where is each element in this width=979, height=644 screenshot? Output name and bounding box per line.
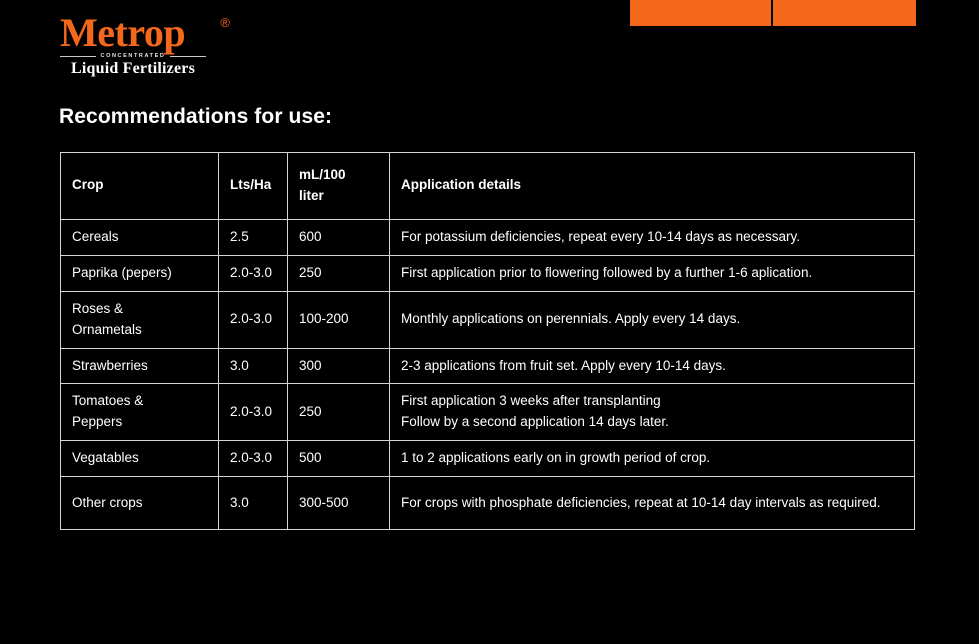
cell-crop: Cereals	[61, 219, 219, 255]
table-header-row: Crop Lts/Ha mL/100 liter Application det…	[61, 153, 915, 220]
brand-tagline: Liquid Fertilizers	[60, 60, 206, 78]
cell-crop: Vegatables	[61, 441, 219, 477]
registered-trademark-icon: ®	[220, 16, 230, 29]
cell-lts-ha: 2.0-3.0	[219, 291, 288, 348]
brand-logo: Metrop® CONCENTRATED Liquid Fertilizers	[60, 14, 220, 78]
page-title: Recommendations for use:	[59, 105, 332, 129]
cell-details: First application 3 weeks after transpla…	[390, 384, 915, 441]
cell-crop: Other crops	[61, 477, 219, 530]
rule-right	[170, 56, 206, 57]
cell-ml-100l: 250	[288, 255, 390, 291]
table-row: Tomatoes & Peppers 2.0-3.0 250 First app…	[61, 384, 915, 441]
cell-lts-ha: 2.0-3.0	[219, 384, 288, 441]
column-header-crop: Crop	[61, 153, 219, 220]
cell-crop: Tomatoes & Peppers	[61, 384, 219, 441]
decorative-top-bars	[630, 0, 916, 26]
table-row: Vegatables 2.0-3.0 500 1 to 2 applicatio…	[61, 441, 915, 477]
rule-left	[60, 56, 96, 57]
cell-details: 1 to 2 applications early on in growth p…	[390, 441, 915, 477]
cell-lts-ha: 2.5	[219, 219, 288, 255]
column-header-application-details: Application details	[390, 153, 915, 220]
cell-crop: Strawberries	[61, 348, 219, 384]
cell-ml-100l: 100-200	[288, 291, 390, 348]
cell-details: Monthly applications on perennials. Appl…	[390, 291, 915, 348]
cell-ml-100l: 600	[288, 219, 390, 255]
table-row: Paprika (pepers) 2.0-3.0 250 First appli…	[61, 255, 915, 291]
table-row: Strawberries 3.0 300 2-3 applications fr…	[61, 348, 915, 384]
cell-crop: Roses & Ornametals	[61, 291, 219, 348]
table-row: Roses & Ornametals 2.0-3.0 100-200 Month…	[61, 291, 915, 348]
cell-lts-ha: 3.0	[219, 348, 288, 384]
cell-details: First application prior to flowering fol…	[390, 255, 915, 291]
cell-details: For crops with phosphate deficiencies, r…	[390, 477, 915, 530]
cell-lts-ha: 2.0-3.0	[219, 255, 288, 291]
cell-lts-ha: 2.0-3.0	[219, 441, 288, 477]
cell-details: For potassium deficiencies, repeat every…	[390, 219, 915, 255]
cell-ml-100l: 300-500	[288, 477, 390, 530]
cell-lts-ha: 3.0	[219, 477, 288, 530]
column-header-lts-ha: Lts/Ha	[219, 153, 288, 220]
table-row: Cereals 2.5 600 For potassium deficienci…	[61, 219, 915, 255]
cell-details: 2-3 applications from fruit set. Apply e…	[390, 348, 915, 384]
cell-crop: Paprika (pepers)	[61, 255, 219, 291]
cell-ml-100l: 250	[288, 384, 390, 441]
brand-name: Metrop	[60, 14, 185, 52]
recommendations-table: Crop Lts/Ha mL/100 liter Application det…	[60, 152, 915, 530]
column-header-ml-per-100-liter: mL/100 liter	[288, 153, 390, 220]
recommendations-table-container: Crop Lts/Ha mL/100 liter Application det…	[60, 152, 914, 530]
orange-bar-2	[773, 0, 916, 26]
orange-bar-1	[630, 0, 771, 26]
table-row: Other crops 3.0 300-500 For crops with p…	[61, 477, 915, 530]
cell-ml-100l: 500	[288, 441, 390, 477]
cell-ml-100l: 300	[288, 348, 390, 384]
